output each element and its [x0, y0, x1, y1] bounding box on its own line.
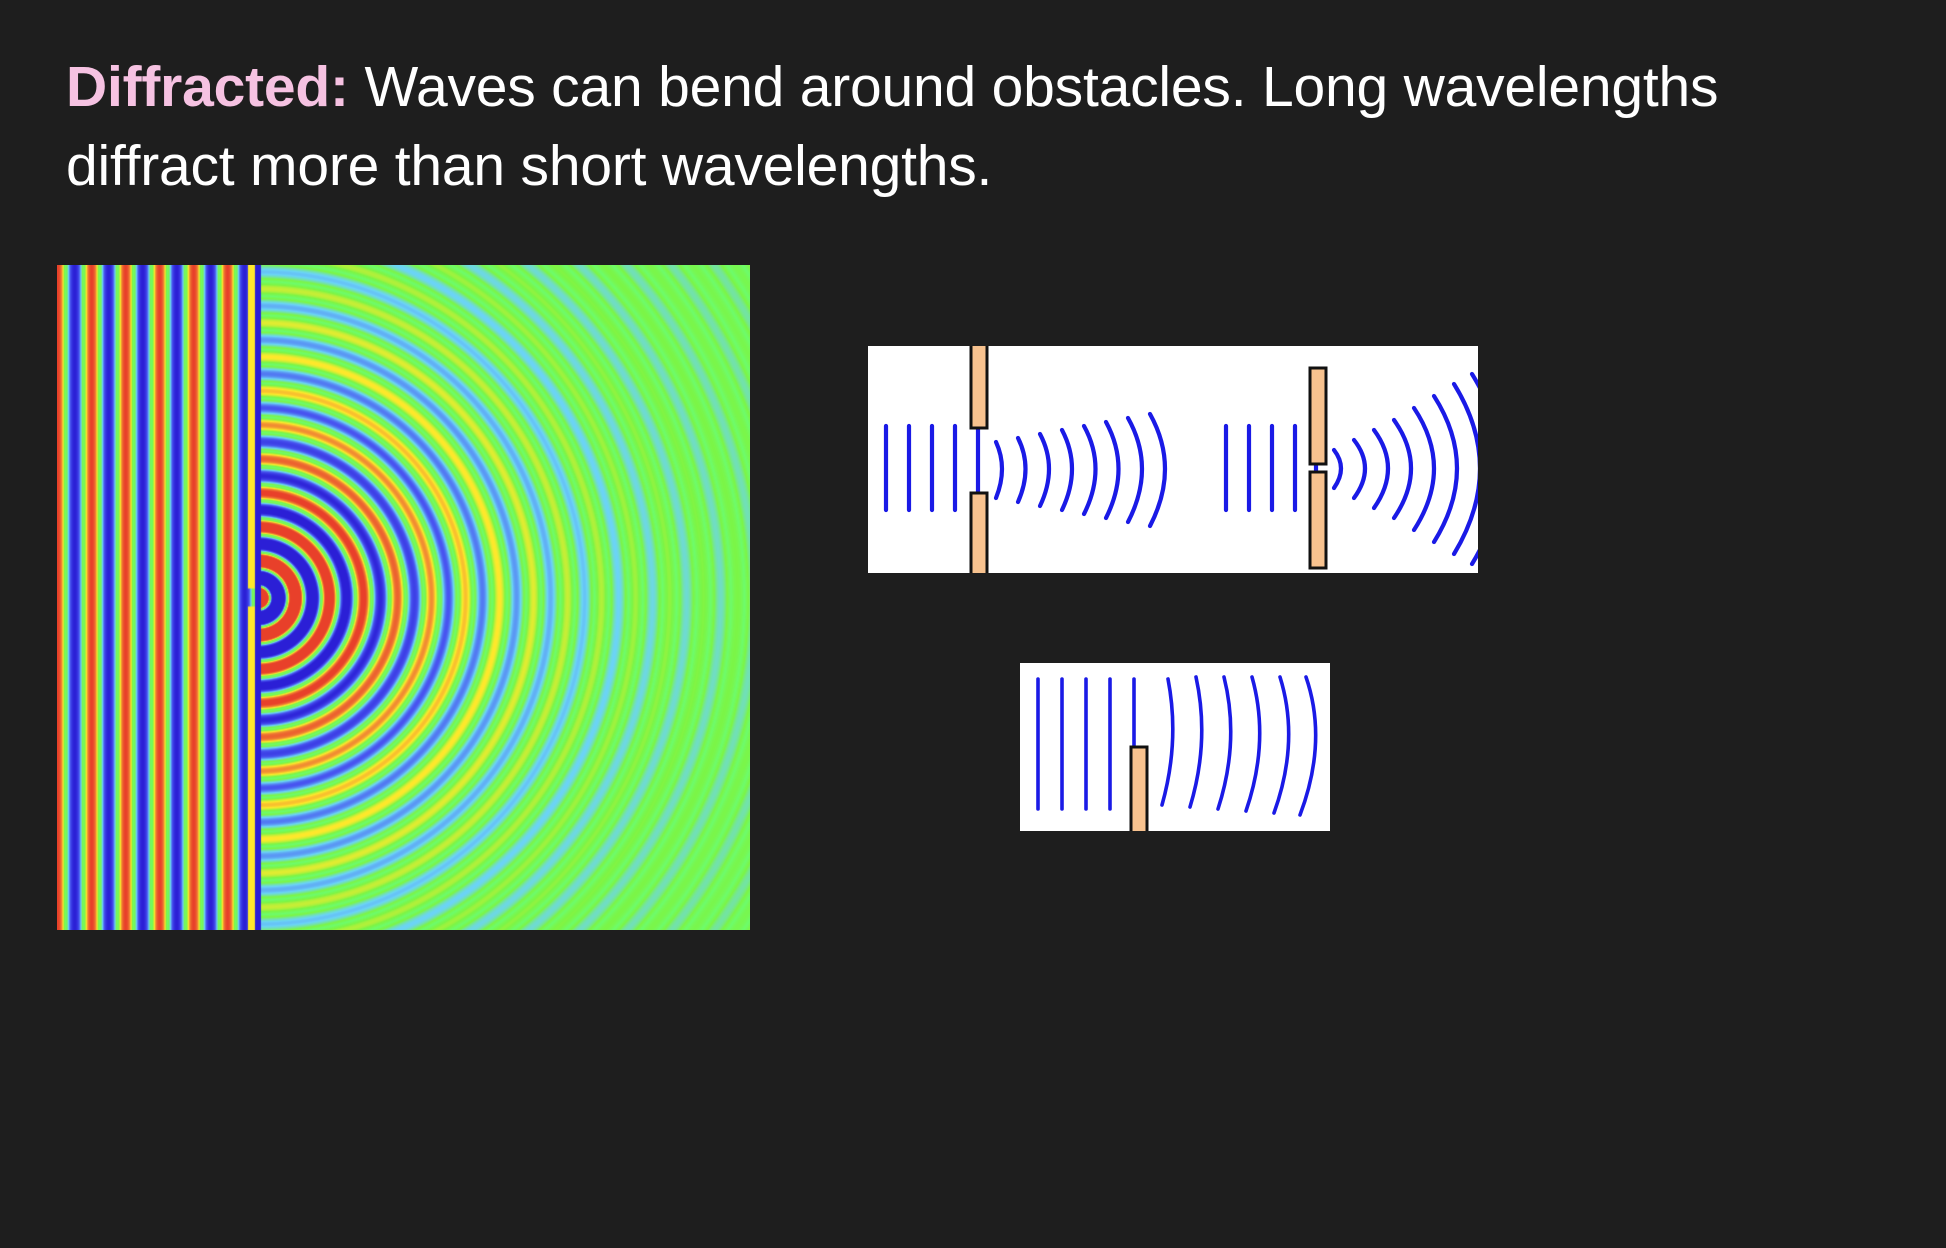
barrier-obstacle-c	[1131, 747, 1147, 831]
barrier-lower-b	[1310, 472, 1326, 568]
obstacle-diffraction-panel	[1020, 663, 1330, 831]
wave-simulation-figure	[57, 265, 750, 930]
aperture-diffraction-diagram	[868, 346, 1478, 573]
barrier-upper-a	[971, 346, 987, 428]
incoming-plane-wavefronts-a	[886, 422, 978, 514]
barrier-lower-a	[971, 493, 987, 573]
scene-narrow-aperture	[1226, 368, 1478, 568]
scene-wide-aperture	[886, 346, 1165, 573]
incoming-plane-wavefronts-c	[1038, 679, 1134, 809]
obstacle-diffraction-diagram	[1020, 663, 1330, 831]
heading-keyword: Diffracted:	[66, 55, 349, 119]
diffracted-curved-wavefronts-b	[1334, 374, 1478, 564]
page-title: Diffracted: Waves can bend around obstac…	[66, 48, 1766, 206]
diffracted-curved-wavefronts-a	[996, 414, 1165, 526]
barrier-upper-b	[1310, 368, 1326, 464]
wave-simulation-canvas	[57, 265, 750, 930]
incoming-plane-wavefronts-b	[1226, 420, 1316, 516]
aperture-diffraction-panel	[868, 346, 1478, 573]
diffracted-curved-wavefronts-c	[1162, 677, 1316, 815]
